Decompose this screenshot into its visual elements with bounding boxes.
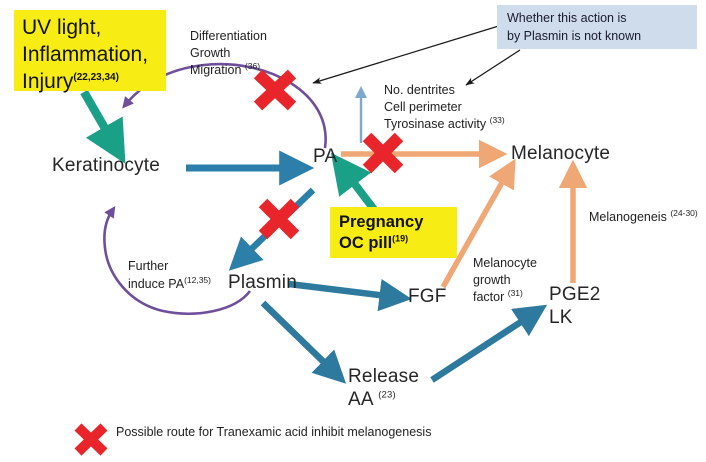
- differentiation-line-3: Migration (36): [190, 61, 267, 79]
- arrow-release-to-pge2: [432, 314, 533, 380]
- growth-factor-ref: (31): [508, 288, 523, 298]
- callout-pointer-right: [466, 50, 520, 85]
- annotation-differentiation: Differentiation Growth Migration (36): [190, 28, 267, 79]
- node-keratinocyte: Keratinocyte: [52, 155, 160, 177]
- further-induce-line-1: Further: [128, 258, 211, 275]
- stimulus-line-2: Inflammation,: [22, 42, 166, 69]
- node-fgf: FGF: [408, 286, 447, 308]
- annotation-further-induce-pa: Further induce PA(12,35): [128, 258, 211, 292]
- differentiation-ref: (36): [245, 61, 260, 71]
- pregnancy-line-2: OC pill(19): [339, 233, 457, 254]
- legend-text: Possible route for Tranexamic acid inhib…: [116, 425, 431, 439]
- arrow-plasmin-to-release: [263, 303, 334, 372]
- legend: Possible route for Tranexamic acid inhib…: [70, 425, 431, 439]
- node-pa: PA: [313, 146, 337, 168]
- node-melanocyte: Melanocyte: [511, 143, 610, 165]
- arrow-pa-to-plasmin: [241, 190, 313, 259]
- node-aa-ref: (23): [378, 390, 396, 401]
- annotation-dendrites: No. dentrites Cell perimeter Tyrosinase …: [384, 82, 505, 133]
- pregnancy-box: Pregnancy OC pill(19): [330, 207, 457, 258]
- dendrites-line-1: No. dentrites: [384, 82, 505, 99]
- diagram-canvas: UV light, Inflammation, Injury(22,23,34)…: [0, 0, 706, 462]
- callout-line-2: by Plasmin is not known: [507, 28, 697, 46]
- pregnancy-ref: (19): [392, 234, 408, 244]
- growth-factor-line-3: factor (31): [473, 288, 537, 306]
- callout-line-1: Whether this action is: [507, 10, 697, 28]
- melanogenesis-label: Melanogeneis: [589, 210, 667, 224]
- growth-factor-line-2: growth: [473, 272, 537, 289]
- node-release: Release: [348, 365, 419, 388]
- callout-pointer-left: [313, 25, 502, 83]
- node-pge2-lk: PGE2 LK: [549, 283, 601, 329]
- annotation-growth-factor: Melanocyte growth factor (31): [473, 255, 537, 306]
- node-lk: LK: [549, 306, 601, 329]
- melanogenesis-ref: (24-30): [670, 208, 697, 218]
- growth-factor-line-1: Melanocyte: [473, 255, 537, 272]
- stimulus-line-1: UV light,: [22, 15, 166, 42]
- callout-box-plasmin-action: Whether this action is by Plasmin is not…: [497, 5, 697, 49]
- node-plasmin: Plasmin: [228, 272, 297, 294]
- node-pge2: PGE2: [549, 283, 601, 306]
- differentiation-line-2: Growth: [190, 45, 267, 62]
- dendrites-ref: (33): [490, 115, 505, 125]
- node-aa: AA (23): [348, 388, 419, 411]
- annotation-melanogenesis: Melanogeneis (24-30): [589, 208, 698, 226]
- red-x-icon-pa-plasmin: [263, 203, 295, 235]
- dendrites-line-3: Tyrosinase activity (33): [384, 115, 505, 133]
- further-induce-ref: (12,35): [184, 275, 211, 285]
- stimulus-ref: (22,23,34): [73, 72, 119, 83]
- pregnancy-line-1: Pregnancy: [339, 212, 457, 233]
- arrow-stimulus-to-keratinocyte: [84, 92, 114, 144]
- dendrites-line-2: Cell perimeter: [384, 99, 505, 116]
- arrow-plasmin-to-fgf: [289, 284, 395, 297]
- stimulus-line-3: Injury(22,23,34): [22, 69, 166, 96]
- further-induce-line-2: induce PA(12,35): [128, 275, 211, 293]
- node-release-aa: Release AA (23): [348, 365, 419, 411]
- differentiation-line-1: Differentiation: [190, 28, 267, 45]
- red-x-icon-pa-melanocyte: [367, 137, 399, 169]
- stimulus-box: UV light, Inflammation, Injury(22,23,34): [14, 10, 166, 91]
